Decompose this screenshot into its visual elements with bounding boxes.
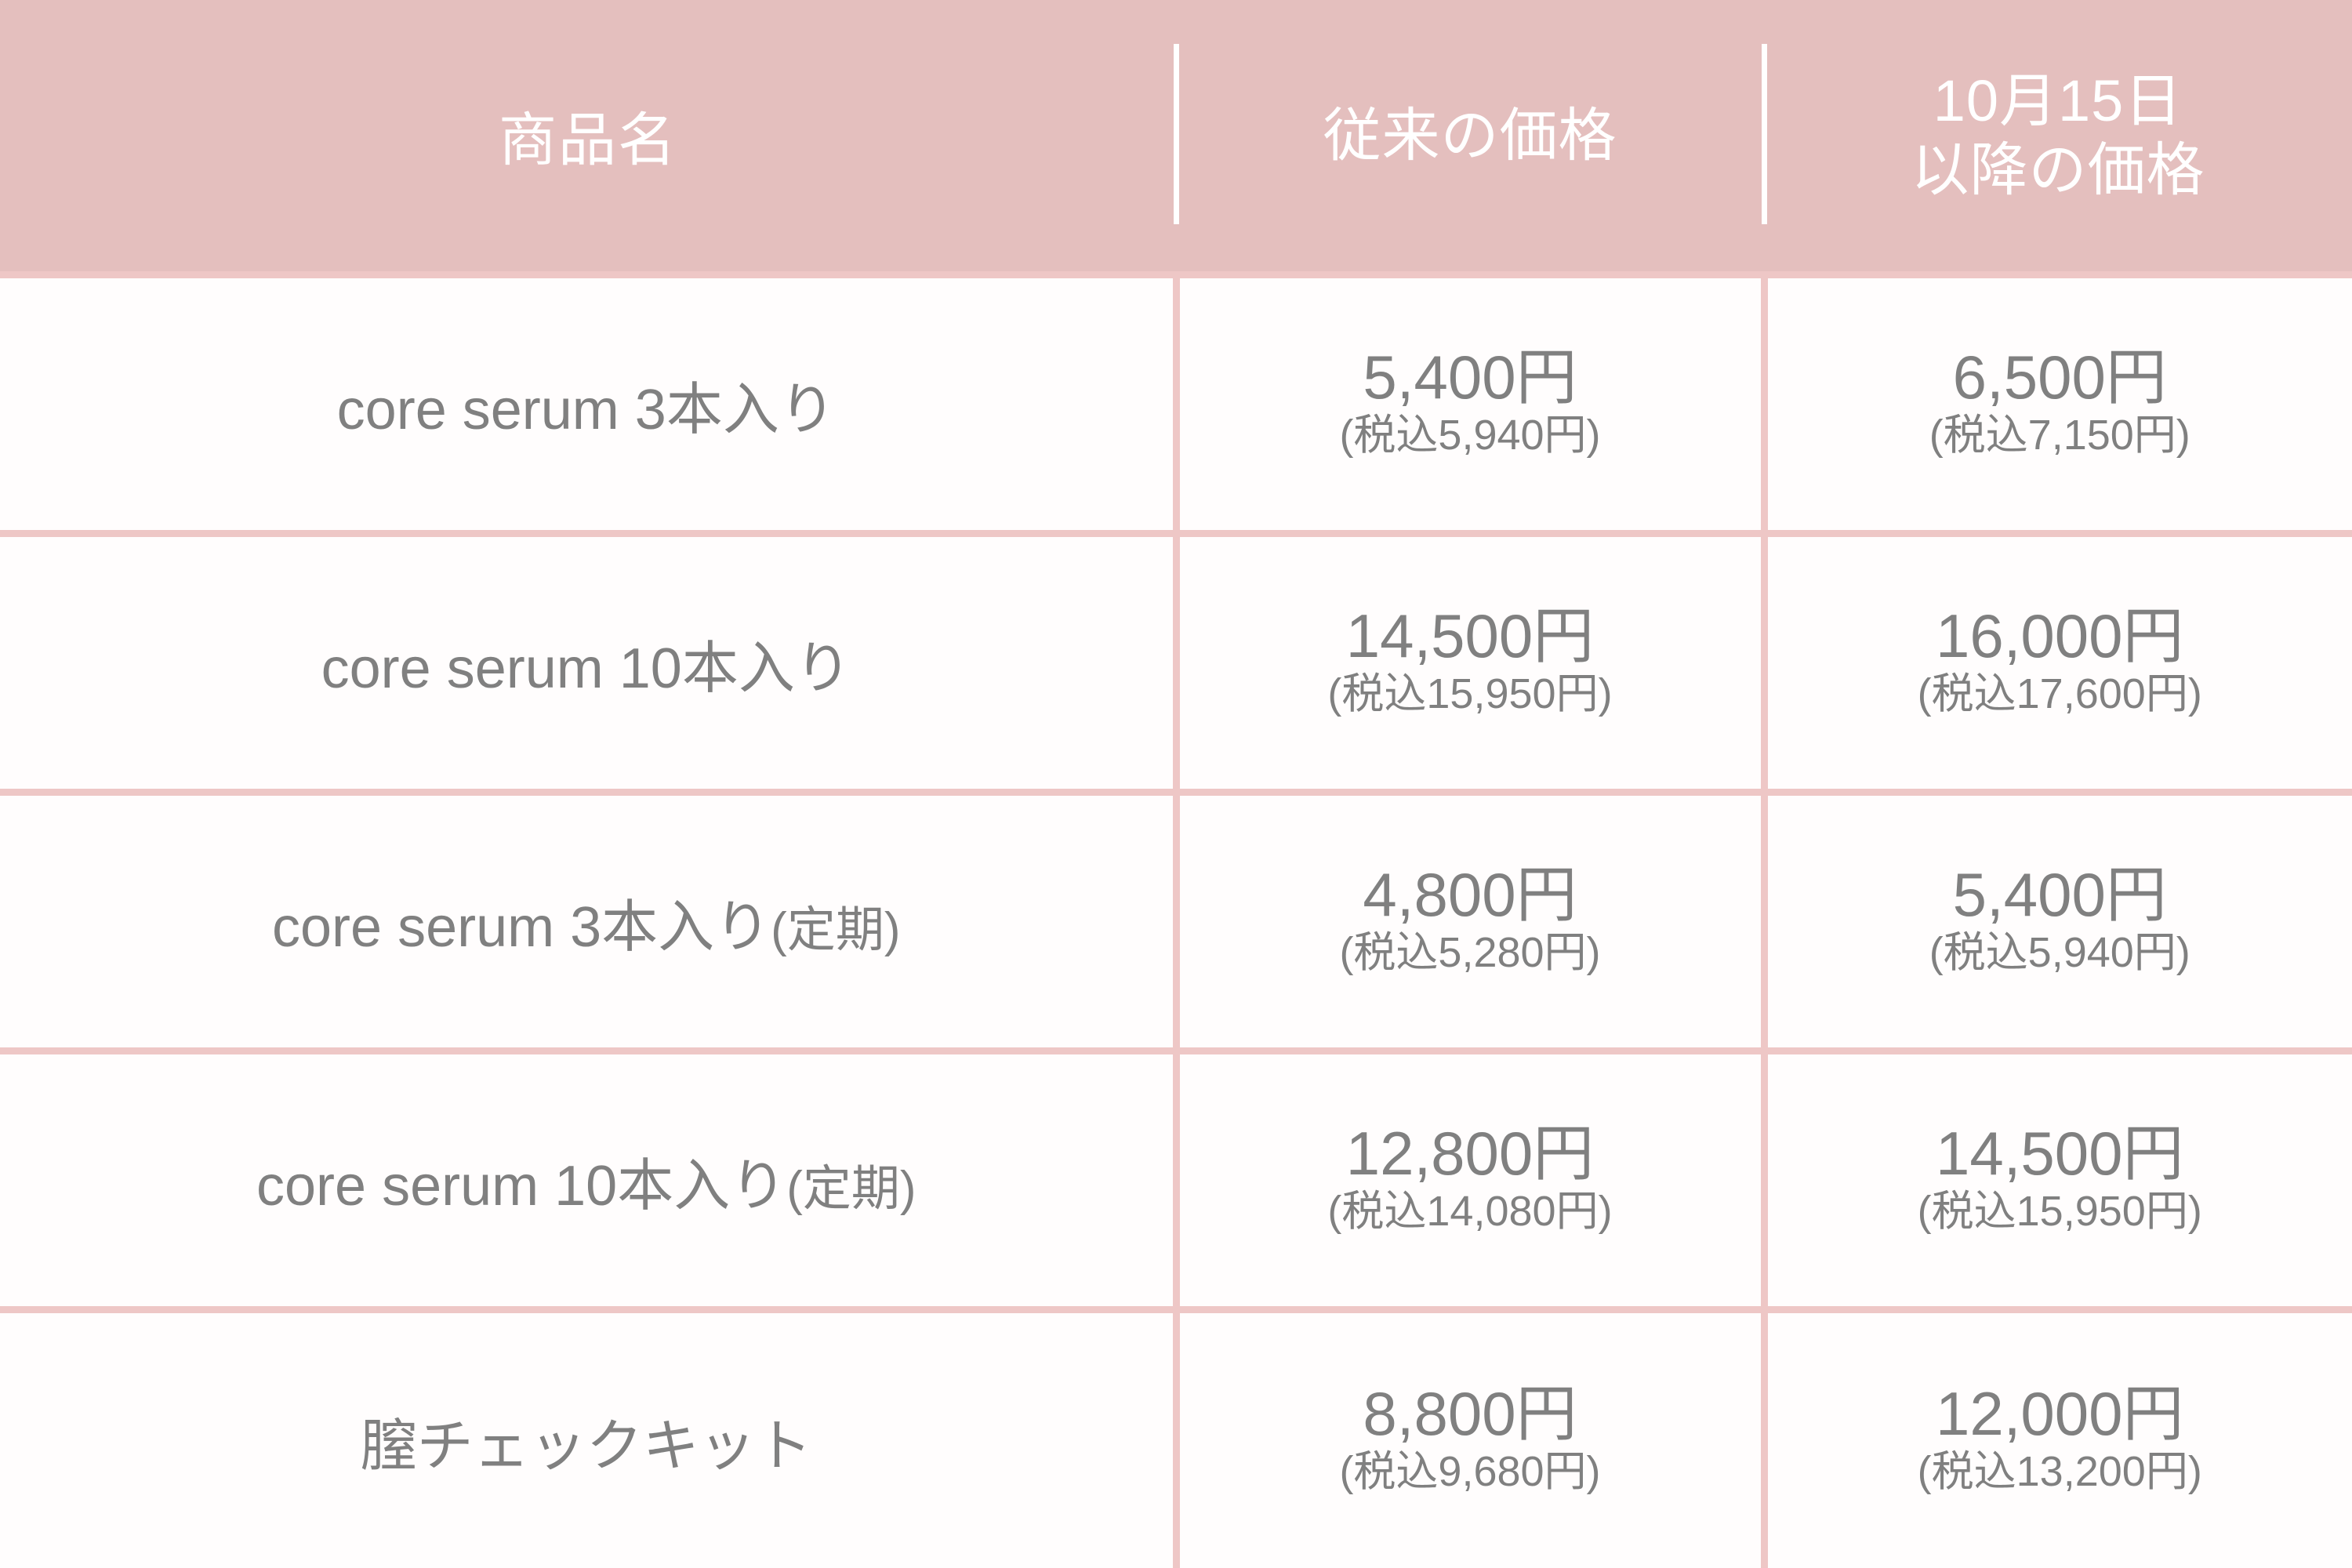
cell-old-price: 4,800円 (税込5,280円): [1176, 792, 1764, 1051]
old-price-amount: 14,500円: [1180, 604, 1761, 668]
table-row: 膣チェックキット 8,800円 (税込9,680円) 12,000円 (税込13…: [0, 1309, 2352, 1568]
product-name-base: core serum 10本入り: [321, 637, 851, 700]
new-price-tax-included: (税込17,600円): [1768, 668, 2352, 721]
table-header: 商品名 従来の価格 10月15日 以降の価格: [0, 0, 2352, 274]
price-comparison-table: 商品名 従来の価格 10月15日 以降の価格 core serum 3本入り 5…: [0, 0, 2352, 1568]
new-price-amount: 14,500円: [1768, 1122, 2352, 1185]
cell-new-price: 12,000円 (税込13,200円): [1764, 1309, 2352, 1568]
old-price-amount: 5,400円: [1180, 346, 1761, 409]
column-header-old-price-label: 従来の価格: [1176, 101, 1764, 169]
column-header-new-price-line2: 以降の価格: [1764, 136, 2352, 204]
table-header-row: 商品名 従来の価格 10月15日 以降の価格: [0, 0, 2352, 274]
table-row: core serum 3本入り 5,400円 (税込5,940円) 6,500円…: [0, 274, 2352, 533]
cell-new-price: 14,500円 (税込15,950円): [1764, 1051, 2352, 1309]
product-name-base: core serum 3本入り: [272, 896, 771, 959]
product-name-base: core serum 10本入り: [256, 1155, 786, 1218]
old-price-amount: 8,800円: [1180, 1382, 1761, 1446]
new-price-amount: 16,000円: [1768, 604, 2352, 668]
table-row: core serum 3本入り(定期) 4,800円 (税込5,280円) 5,…: [0, 792, 2352, 1051]
cell-old-price: 8,800円 (税込9,680円): [1176, 1309, 1764, 1568]
new-price-tax-included: (税込15,950円): [1768, 1185, 2352, 1239]
price-comparison-table-canvas: 商品名 従来の価格 10月15日 以降の価格 core serum 3本入り 5…: [0, 0, 2352, 1568]
cell-product-name: core serum 10本入り(定期): [0, 1051, 1176, 1309]
new-price-amount: 5,400円: [1768, 863, 2352, 927]
old-price-tax-included: (税込15,950円): [1180, 668, 1761, 721]
cell-old-price: 12,800円 (税込14,080円): [1176, 1051, 1764, 1309]
column-header-new-price: 10月15日 以降の価格: [1764, 0, 2352, 274]
old-price-tax-included: (税込9,680円): [1180, 1446, 1761, 1499]
cell-new-price: 6,500円 (税込7,150円): [1764, 274, 2352, 533]
old-price-amount: 12,800円: [1180, 1122, 1761, 1185]
product-name-base: 膣チェックキット: [361, 1415, 812, 1478]
cell-product-name: 膣チェックキット: [0, 1309, 1176, 1568]
old-price-amount: 4,800円: [1180, 863, 1761, 927]
cell-new-price: 5,400円 (税込5,940円): [1764, 792, 2352, 1051]
product-name-suffix: (定期): [771, 903, 900, 957]
old-price-tax-included: (税込5,940円): [1180, 409, 1761, 463]
table-row: core serum 10本入り 14,500円 (税込15,950円) 16,…: [0, 533, 2352, 792]
table-body: core serum 3本入り 5,400円 (税込5,940円) 6,500円…: [0, 274, 2352, 1568]
new-price-amount: 6,500円: [1768, 346, 2352, 409]
old-price-tax-included: (税込14,080円): [1180, 1185, 1761, 1239]
cell-product-name: core serum 3本入り(定期): [0, 792, 1176, 1051]
column-header-old-price: 従来の価格: [1176, 0, 1764, 274]
cell-old-price: 14,500円 (税込15,950円): [1176, 533, 1764, 792]
cell-product-name: core serum 10本入り: [0, 533, 1176, 792]
table-row: core serum 10本入り(定期) 12,800円 (税込14,080円)…: [0, 1051, 2352, 1309]
new-price-tax-included: (税込5,940円): [1768, 927, 2352, 980]
new-price-tax-included: (税込7,150円): [1768, 409, 2352, 463]
new-price-amount: 12,000円: [1768, 1382, 2352, 1446]
new-price-tax-included: (税込13,200円): [1768, 1446, 2352, 1499]
cell-product-name: core serum 3本入り: [0, 274, 1176, 533]
column-header-product-name: 商品名: [0, 0, 1176, 274]
product-name-base: core serum 3本入り: [337, 379, 836, 441]
column-header-new-price-line1: 10月15日: [1764, 67, 2352, 135]
cell-old-price: 5,400円 (税込5,940円): [1176, 274, 1764, 533]
old-price-tax-included: (税込5,280円): [1180, 927, 1761, 980]
cell-new-price: 16,000円 (税込17,600円): [1764, 533, 2352, 792]
product-name-suffix: (定期): [786, 1162, 916, 1216]
